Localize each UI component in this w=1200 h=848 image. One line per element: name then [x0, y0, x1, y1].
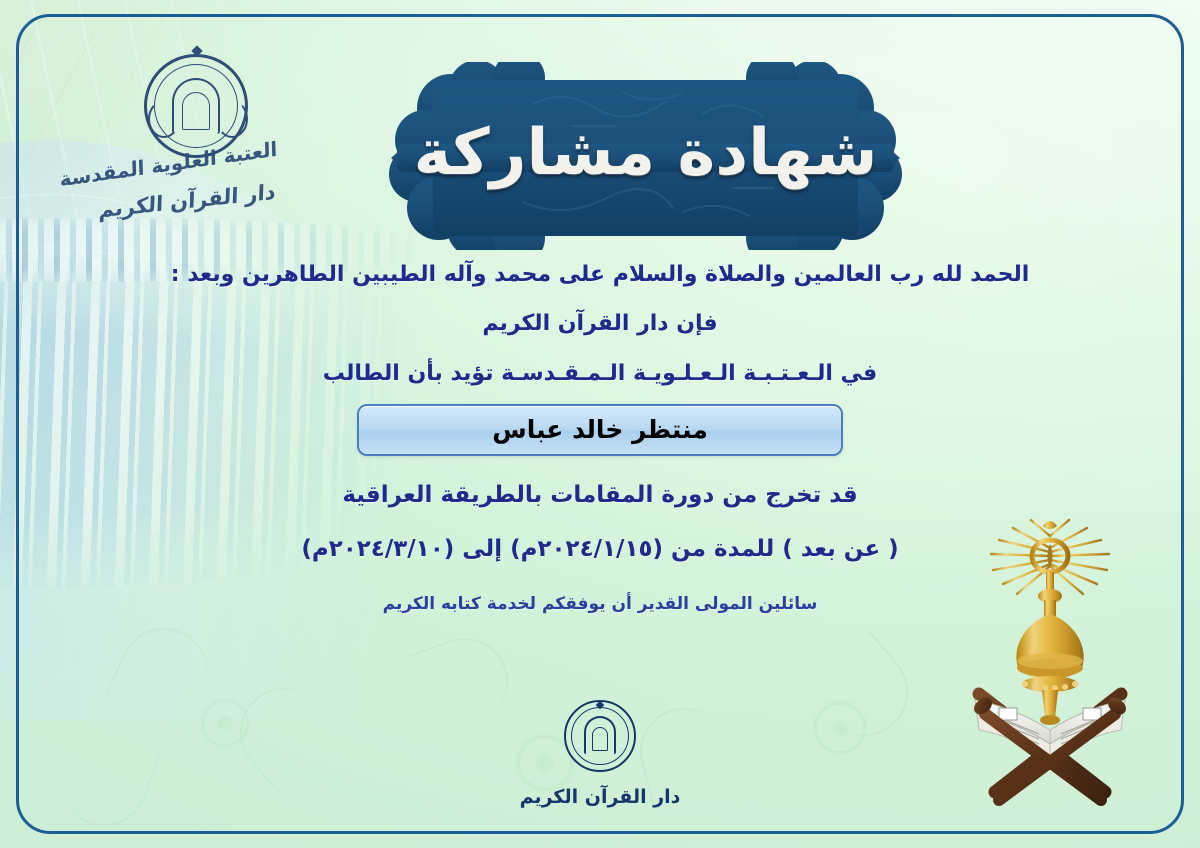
- emblem-swirl: [148, 100, 180, 138]
- header-logo: العتبة العلوية المقدسة دار القرآن الكريم: [112, 48, 282, 228]
- body-line-issuer: فإن دار القرآن الكريم: [0, 311, 1200, 336]
- quran-stand-illustration: [955, 518, 1145, 808]
- recipient-name: منتظر خالد عباس: [492, 415, 708, 444]
- certificate-title: شهادة مشاركة: [373, 62, 918, 250]
- dar-alquran-emblem-icon: [564, 700, 636, 772]
- body-line-course: قد تخرج من دورة المقامات بالطريقة العراق…: [0, 482, 1200, 508]
- title-banner: شهادة مشاركة: [373, 62, 918, 250]
- emblem-swirl: [216, 100, 248, 138]
- certificate-page: العتبة العلوية المقدسة دار القرآن الكريم: [0, 0, 1200, 848]
- recipient-name-box: منتظر خالد عباس: [357, 404, 843, 456]
- quran-rehal-graphic: [955, 518, 1145, 808]
- header-logo-calligraphy-line-2: دار القرآن الكريم: [118, 180, 276, 221]
- body-line-praise: الحمد لله رب العالمين والصلاة والسلام عل…: [0, 262, 1200, 287]
- footer-emblem-arch: [584, 716, 616, 754]
- body-line-shrine: في الـعـتـبـة الـعـلـويـة الـمـقـدسـة تؤ…: [0, 361, 1200, 386]
- emblem-arch-shape: [172, 78, 220, 134]
- footer-logo-label: دار القرآن الكريم: [520, 786, 681, 808]
